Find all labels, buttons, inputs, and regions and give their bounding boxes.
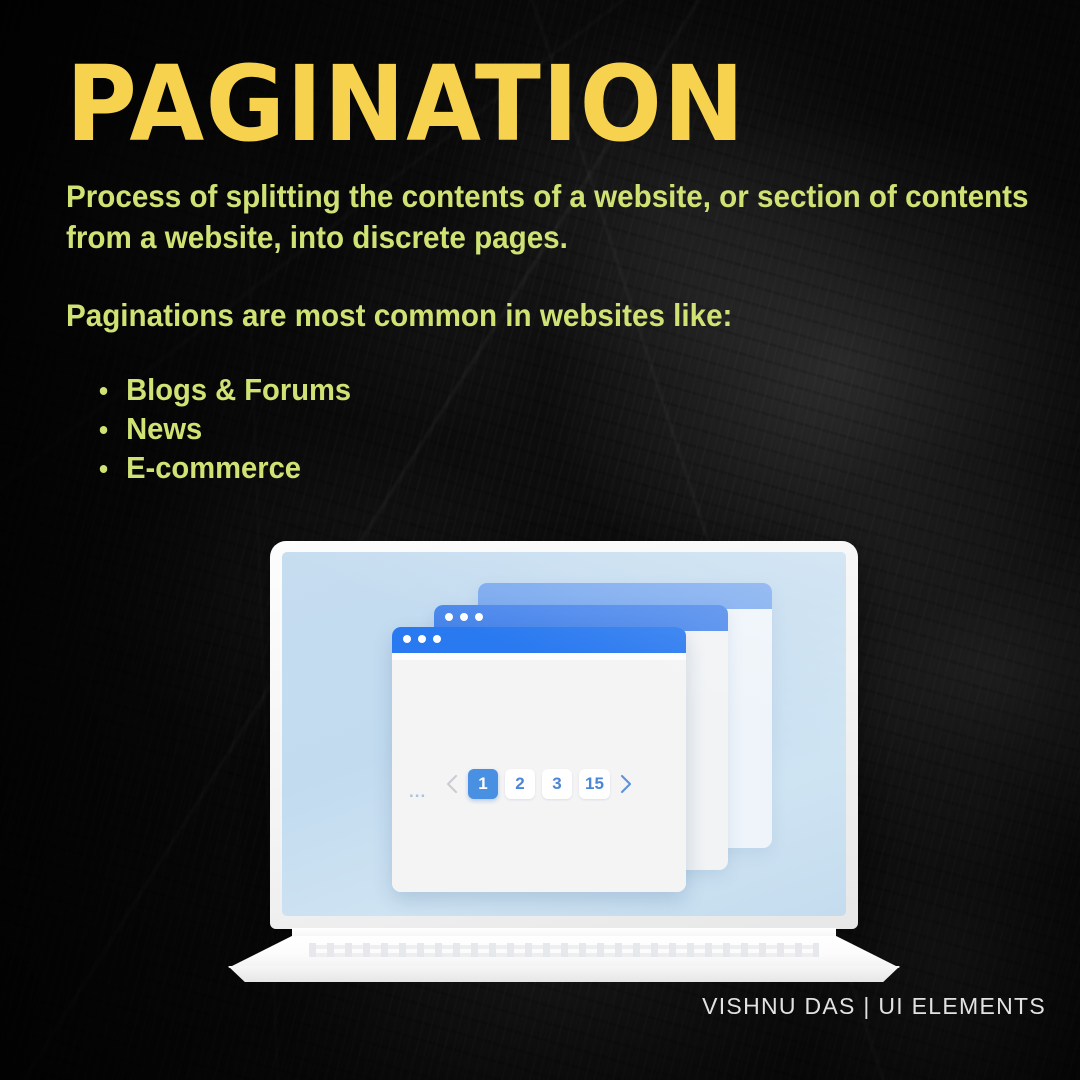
pagination-page-1[interactable]: 1 bbox=[468, 769, 498, 799]
definition-paragraph: Process of splitting the contents of a w… bbox=[66, 176, 1072, 258]
window-titlebar bbox=[478, 583, 772, 609]
intro-paragraph: Paginations are most common in websites … bbox=[66, 295, 1072, 336]
laptop-screen: 1 2 3 ... 15 bbox=[282, 552, 846, 916]
list-item: Blogs & Forums bbox=[96, 370, 351, 409]
browser-window-front[interactable]: 1 2 3 ... 15 bbox=[392, 627, 686, 892]
pagination-next-icon[interactable] bbox=[617, 773, 637, 795]
window-dots-icon bbox=[445, 613, 483, 621]
laptop-lid: 1 2 3 ... 15 bbox=[270, 541, 858, 929]
browser-window-middle[interactable] bbox=[434, 605, 728, 870]
window-dots-icon bbox=[403, 635, 441, 643]
pagination-control: 1 2 3 ... 15 bbox=[392, 769, 686, 799]
keyboard-keys bbox=[309, 943, 820, 957]
pagination-ellipsis: ... bbox=[403, 777, 432, 807]
browser-window-back[interactable] bbox=[478, 583, 772, 848]
window-content-area: 1 2 3 ... 15 bbox=[392, 653, 686, 892]
credit-text: VISHNU DAS | UI ELEMENTS bbox=[702, 993, 1046, 1020]
list-item: E-commerce bbox=[96, 448, 351, 487]
pagination-prev-icon[interactable] bbox=[441, 773, 461, 795]
list-item: News bbox=[96, 409, 351, 448]
window-titlebar bbox=[392, 627, 686, 653]
window-titlebar bbox=[434, 605, 728, 631]
laptop-base-front bbox=[228, 966, 900, 982]
laptop-keyboard bbox=[228, 936, 900, 968]
pagination-page-3[interactable]: 3 bbox=[542, 769, 572, 799]
page-title: PAGINATION bbox=[66, 52, 746, 156]
pagination-page-15[interactable]: 15 bbox=[579, 769, 610, 799]
pagination-page-2[interactable]: 2 bbox=[505, 769, 535, 799]
usage-list: Blogs & Forums News E-commerce bbox=[96, 370, 351, 487]
laptop-illustration: 1 2 3 ... 15 bbox=[228, 536, 900, 976]
